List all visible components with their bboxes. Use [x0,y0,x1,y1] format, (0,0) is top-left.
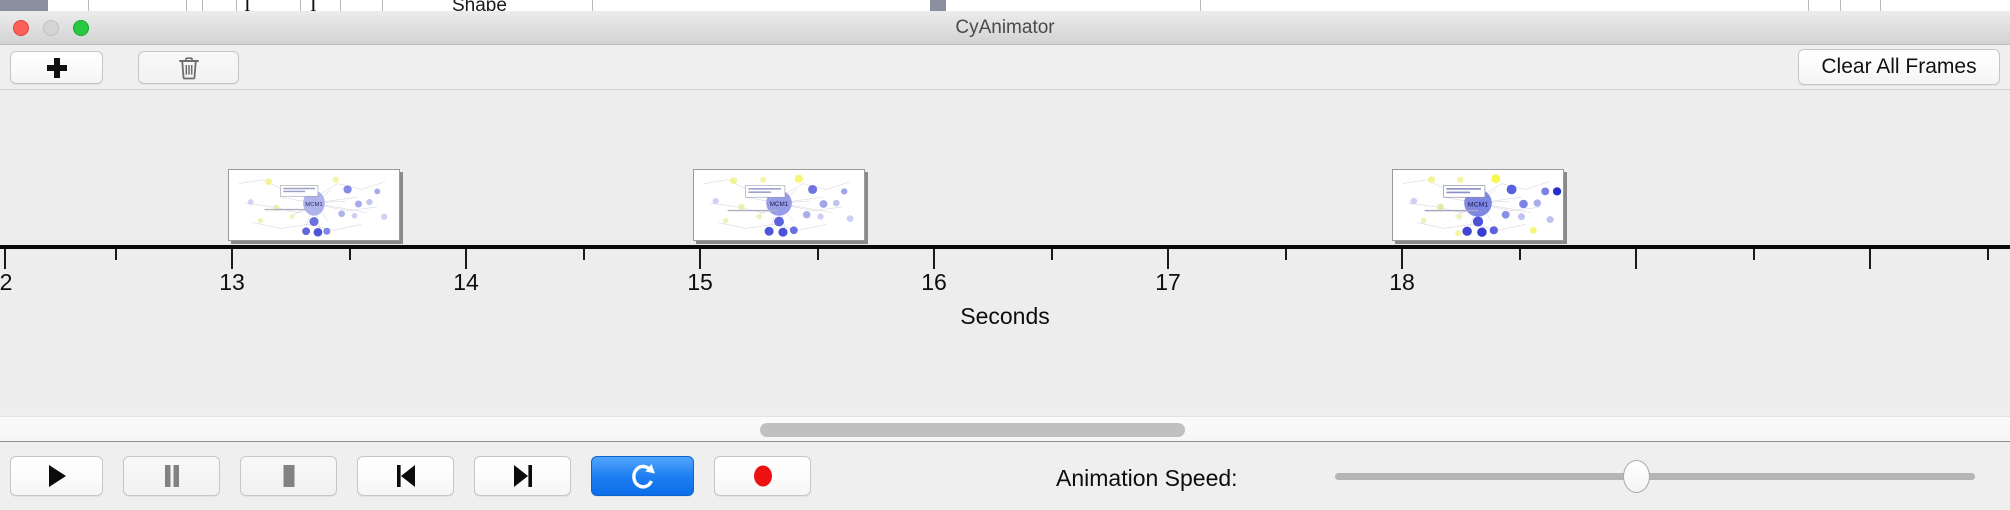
ruler-tick-minor [1987,249,1989,260]
svg-text:MCM1: MCM1 [1468,201,1489,208]
ruler-label: 15 [687,269,713,296]
ruler-label: 13 [219,269,245,296]
ruler-tick-major [465,249,467,269]
ruler-tick-major [1635,249,1637,269]
svg-text:MCM1: MCM1 [770,201,789,208]
skip-forward-icon [510,463,536,489]
ruler-tick-major [4,249,6,269]
cyanimator-window: I I Shape CyAnimator Clear All Frames [0,0,2010,510]
toolbar: Clear All Frames [0,45,2010,90]
pause-icon [161,463,183,489]
trash-icon [178,56,200,80]
loop-button[interactable] [591,456,694,496]
animation-speed-slider-thumb[interactable] [1623,460,1650,493]
animation-speed-slider[interactable] [1335,473,1975,480]
ruler-label: 16 [921,269,947,296]
timeline-frame-thumbnail[interactable]: MCM1 [228,169,400,241]
ruler-label: 2 [0,269,12,296]
ruler-tick-major [1401,249,1403,269]
timeline-frame-thumbnail[interactable]: MCM1 [1392,169,1564,241]
add-frame-button[interactable] [10,51,103,84]
ruler-tick-minor [349,249,351,260]
timeline-axis-title: Seconds [0,303,2010,330]
ruler-tick-minor [817,249,819,260]
last-frame-button[interactable] [474,456,571,496]
timeline-frame-thumbnail[interactable]: MCM1 [693,169,865,241]
clear-all-frames-button[interactable]: Clear All Frames [1798,49,2000,85]
horizontal-scrollbar-track[interactable] [0,416,2010,442]
ruler-tick-minor [1753,249,1755,260]
timeline-panel[interactable]: MCM1 [0,91,2010,406]
plus-icon [47,58,67,78]
timeline-ruler-line [0,245,2010,249]
ruler-tick-major [933,249,935,269]
stop-button[interactable] [240,456,337,496]
record-icon [751,463,775,489]
skip-back-icon [393,463,419,489]
pause-button[interactable] [123,456,220,496]
play-button[interactable] [10,456,103,496]
horizontal-scrollbar-thumb[interactable] [760,423,1185,437]
stop-icon [278,463,300,489]
play-icon [45,463,69,489]
ruler-tick-major [1167,249,1169,269]
ruler-tick-major [231,249,233,269]
ruler-tick-minor [1519,249,1521,260]
first-frame-button[interactable] [357,456,454,496]
record-button[interactable] [714,456,811,496]
ruler-label: 14 [453,269,479,296]
delete-frame-button[interactable] [138,51,239,84]
ruler-tick-minor [1285,249,1287,260]
playback-control-bar: Animation Speed: [0,443,2010,510]
ruler-label: 17 [1155,269,1181,296]
loop-icon [630,462,656,490]
ruler-tick-minor [115,249,117,260]
ruler-tick-major [699,249,701,269]
window-title: CyAnimator [0,11,2010,45]
ruler-tick-major [1869,249,1871,269]
animation-speed-label: Animation Speed: [1056,465,1238,492]
svg-text:MCM1: MCM1 [305,202,322,208]
ruler-tick-minor [1051,249,1053,260]
title-bar: CyAnimator [0,11,2010,45]
ruler-tick-minor [583,249,585,260]
ruler-label: 18 [1389,269,1415,296]
